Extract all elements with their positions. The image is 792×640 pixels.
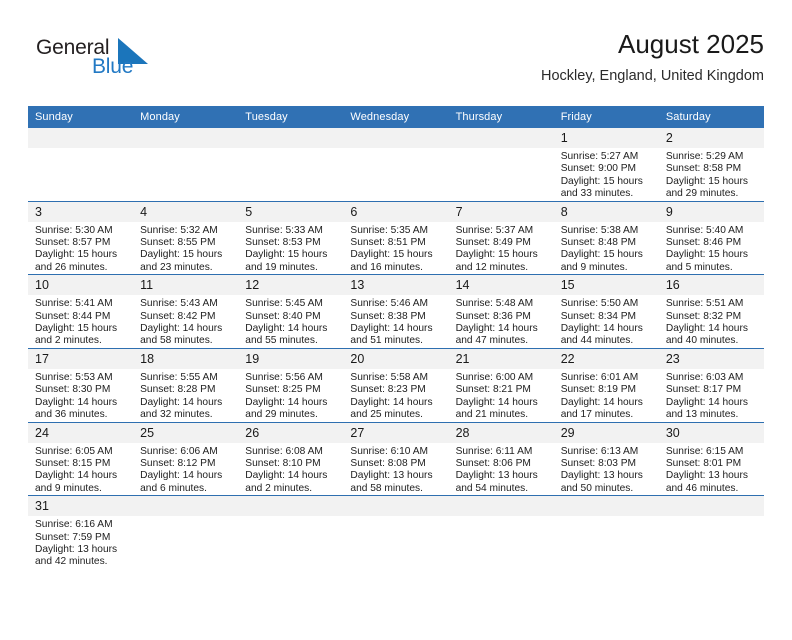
day-details: Sunrise: 6:15 AMSunset: 8:01 PMDaylight:… <box>659 443 764 496</box>
day-details: Sunrise: 5:55 AMSunset: 8:28 PMDaylight:… <box>133 369 238 422</box>
sunrise-time: Sunrise: 5:51 AM <box>666 298 758 310</box>
sunrise-time: Sunrise: 5:43 AM <box>140 298 232 310</box>
day-number: 31 <box>28 496 133 516</box>
sunset-time: Sunset: 8:12 PM <box>140 458 232 470</box>
calendar-day-cell[interactable]: 21Sunrise: 6:00 AMSunset: 8:21 PMDayligh… <box>449 348 554 422</box>
daylight-duration-line2: and 19 minutes. <box>245 262 337 274</box>
day-details: Sunrise: 5:33 AMSunset: 8:53 PMDaylight:… <box>238 222 343 275</box>
sunrise-time: Sunrise: 5:33 AM <box>245 225 337 237</box>
daylight-duration-line1: Daylight: 15 hours <box>666 176 758 188</box>
daylight-duration-line2: and 23 minutes. <box>140 262 232 274</box>
daylight-duration-line1: Daylight: 13 hours <box>350 470 442 482</box>
calendar-day-cell[interactable]: 19Sunrise: 5:56 AMSunset: 8:25 PMDayligh… <box>238 348 343 422</box>
daylight-duration-line1: Daylight: 14 hours <box>666 323 758 335</box>
sunrise-time: Sunrise: 6:05 AM <box>35 446 127 458</box>
sunset-time: Sunset: 8:17 PM <box>666 384 758 396</box>
sunrise-time: Sunrise: 6:13 AM <box>561 446 653 458</box>
sunset-time: Sunset: 8:01 PM <box>666 458 758 470</box>
day-details: Sunrise: 5:37 AMSunset: 8:49 PMDaylight:… <box>449 222 554 275</box>
sunset-time: Sunset: 8:53 PM <box>245 237 337 249</box>
calendar-day-cell[interactable]: 10Sunrise: 5:41 AMSunset: 8:44 PMDayligh… <box>28 275 133 349</box>
calendar-grid: Sunday Monday Tuesday Wednesday Thursday… <box>28 106 764 576</box>
calendar-body: 1Sunrise: 5:27 AMSunset: 9:00 PMDaylight… <box>28 128 764 576</box>
calendar-day-cell[interactable]: 24Sunrise: 6:05 AMSunset: 8:15 PMDayligh… <box>28 422 133 496</box>
day-details: Sunrise: 5:30 AMSunset: 8:57 PMDaylight:… <box>28 222 133 275</box>
daylight-duration-line1: Daylight: 14 hours <box>35 470 127 482</box>
weekday-header-monday: Monday <box>133 106 238 128</box>
daylight-duration-line1: Daylight: 15 hours <box>35 249 127 261</box>
day-number: 21 <box>449 349 554 369</box>
day-number: 5 <box>238 202 343 222</box>
day-number: 24 <box>28 423 133 443</box>
day-details: Sunrise: 6:13 AMSunset: 8:03 PMDaylight:… <box>554 443 659 496</box>
day-number: 1 <box>554 128 659 148</box>
sunset-time: Sunset: 8:55 PM <box>140 237 232 249</box>
day-number: 20 <box>343 349 448 369</box>
day-number <box>449 128 554 148</box>
daylight-duration-line1: Daylight: 15 hours <box>561 249 653 261</box>
calendar-day-cell[interactable]: 11Sunrise: 5:43 AMSunset: 8:42 PMDayligh… <box>133 275 238 349</box>
calendar-day-cell[interactable]: 18Sunrise: 5:55 AMSunset: 8:28 PMDayligh… <box>133 348 238 422</box>
day-number: 12 <box>238 275 343 295</box>
sunrise-time: Sunrise: 5:50 AM <box>561 298 653 310</box>
sunrise-time: Sunrise: 5:48 AM <box>456 298 548 310</box>
sunrise-time: Sunrise: 6:15 AM <box>666 446 758 458</box>
calendar-day-cell[interactable]: 14Sunrise: 5:48 AMSunset: 8:36 PMDayligh… <box>449 275 554 349</box>
day-details: Sunrise: 6:01 AMSunset: 8:19 PMDaylight:… <box>554 369 659 422</box>
day-number: 18 <box>133 349 238 369</box>
sunrise-time: Sunrise: 5:30 AM <box>35 225 127 237</box>
calendar-day-cell[interactable]: 8Sunrise: 5:38 AMSunset: 8:48 PMDaylight… <box>554 201 659 275</box>
day-details: Sunrise: 6:08 AMSunset: 8:10 PMDaylight:… <box>238 443 343 496</box>
sunrise-time: Sunrise: 5:27 AM <box>561 151 653 163</box>
day-number: 25 <box>133 423 238 443</box>
calendar-day-cell[interactable]: 29Sunrise: 6:13 AMSunset: 8:03 PMDayligh… <box>554 422 659 496</box>
sunset-time: Sunset: 8:10 PM <box>245 458 337 470</box>
day-number: 7 <box>449 202 554 222</box>
calendar-day-cell[interactable]: 17Sunrise: 5:53 AMSunset: 8:30 PMDayligh… <box>28 348 133 422</box>
daylight-duration-line2: and 2 minutes. <box>245 483 337 495</box>
day-details: Sunrise: 5:29 AMSunset: 8:58 PMDaylight:… <box>659 148 764 201</box>
daylight-duration-line2: and 33 minutes. <box>561 188 653 200</box>
daylight-duration-line1: Daylight: 14 hours <box>140 323 232 335</box>
weekday-header-friday: Friday <box>554 106 659 128</box>
calendar-day-cell[interactable]: 25Sunrise: 6:06 AMSunset: 8:12 PMDayligh… <box>133 422 238 496</box>
daylight-duration-line1: Daylight: 14 hours <box>561 323 653 335</box>
day-details: Sunrise: 5:53 AMSunset: 8:30 PMDaylight:… <box>28 369 133 422</box>
sunset-time: Sunset: 8:23 PM <box>350 384 442 396</box>
day-details: Sunrise: 6:11 AMSunset: 8:06 PMDaylight:… <box>449 443 554 496</box>
sunrise-time: Sunrise: 5:37 AM <box>456 225 548 237</box>
day-number: 23 <box>659 349 764 369</box>
page-title: August 2025 <box>541 28 764 60</box>
sunset-time: Sunset: 8:03 PM <box>561 458 653 470</box>
day-details: Sunrise: 5:27 AMSunset: 9:00 PMDaylight:… <box>554 148 659 201</box>
calendar-day-cell-empty <box>449 496 554 577</box>
sunset-time: Sunset: 8:51 PM <box>350 237 442 249</box>
day-details: Sunrise: 6:05 AMSunset: 8:15 PMDaylight:… <box>28 443 133 496</box>
day-details: Sunrise: 5:51 AMSunset: 8:32 PMDaylight:… <box>659 295 764 348</box>
day-details: Sunrise: 5:35 AMSunset: 8:51 PMDaylight:… <box>343 222 448 275</box>
calendar-week-row: 3Sunrise: 5:30 AMSunset: 8:57 PMDaylight… <box>28 201 764 275</box>
daylight-duration-line2: and 17 minutes. <box>561 409 653 421</box>
sunset-time: Sunset: 7:59 PM <box>35 532 127 544</box>
calendar-day-cell[interactable]: 15Sunrise: 5:50 AMSunset: 8:34 PMDayligh… <box>554 275 659 349</box>
daylight-duration-line2: and 44 minutes. <box>561 335 653 347</box>
sunset-time: Sunset: 8:38 PM <box>350 311 442 323</box>
day-details: Sunrise: 6:00 AMSunset: 8:21 PMDaylight:… <box>449 369 554 422</box>
day-details: Sunrise: 5:32 AMSunset: 8:55 PMDaylight:… <box>133 222 238 275</box>
daylight-duration-line2: and 2 minutes. <box>35 335 127 347</box>
daylight-duration-line2: and 9 minutes. <box>561 262 653 274</box>
daylight-duration-line2: and 55 minutes. <box>245 335 337 347</box>
calendar-week-row: 17Sunrise: 5:53 AMSunset: 8:30 PMDayligh… <box>28 348 764 422</box>
weekday-header-thursday: Thursday <box>449 106 554 128</box>
calendar-day-cell[interactable]: 5Sunrise: 5:33 AMSunset: 8:53 PMDaylight… <box>238 201 343 275</box>
calendar-day-cell-empty <box>133 496 238 577</box>
calendar-day-cell-empty <box>554 496 659 577</box>
calendar-day-cell-empty <box>238 496 343 577</box>
day-details: Sunrise: 6:03 AMSunset: 8:17 PMDaylight:… <box>659 369 764 422</box>
sunset-time: Sunset: 8:32 PM <box>666 311 758 323</box>
sunrise-time: Sunrise: 5:32 AM <box>140 225 232 237</box>
calendar-day-cell[interactable]: 31Sunrise: 6:16 AMSunset: 7:59 PMDayligh… <box>28 496 133 577</box>
day-details: Sunrise: 5:40 AMSunset: 8:46 PMDaylight:… <box>659 222 764 275</box>
sunset-time: Sunset: 8:21 PM <box>456 384 548 396</box>
sunrise-time: Sunrise: 6:08 AM <box>245 446 337 458</box>
calendar-week-row: 10Sunrise: 5:41 AMSunset: 8:44 PMDayligh… <box>28 275 764 349</box>
sunset-time: Sunset: 8:15 PM <box>35 458 127 470</box>
daylight-duration-line1: Daylight: 13 hours <box>35 544 127 556</box>
calendar-day-cell-empty <box>343 496 448 577</box>
daylight-duration-line1: Daylight: 14 hours <box>456 397 548 409</box>
daylight-duration-line1: Daylight: 15 hours <box>350 249 442 261</box>
day-details: Sunrise: 5:41 AMSunset: 8:44 PMDaylight:… <box>28 295 133 348</box>
day-number <box>238 128 343 148</box>
daylight-duration-line1: Daylight: 13 hours <box>561 470 653 482</box>
daylight-duration-line1: Daylight: 15 hours <box>140 249 232 261</box>
sunrise-time: Sunrise: 6:16 AM <box>35 519 127 531</box>
daylight-duration-line2: and 58 minutes. <box>350 483 442 495</box>
daylight-duration-line2: and 12 minutes. <box>456 262 548 274</box>
daylight-duration-line1: Daylight: 14 hours <box>245 397 337 409</box>
sunset-time: Sunset: 8:58 PM <box>666 163 758 175</box>
calendar-day-cell-empty <box>449 128 554 201</box>
daylight-duration-line2: and 6 minutes. <box>140 483 232 495</box>
sunrise-time: Sunrise: 6:03 AM <box>666 372 758 384</box>
calendar-day-cell[interactable]: 16Sunrise: 5:51 AMSunset: 8:32 PMDayligh… <box>659 275 764 349</box>
sunset-time: Sunset: 8:34 PM <box>561 311 653 323</box>
day-number: 17 <box>28 349 133 369</box>
daylight-duration-line2: and 58 minutes. <box>140 335 232 347</box>
calendar-day-cell[interactable]: 1Sunrise: 5:27 AMSunset: 9:00 PMDaylight… <box>554 128 659 201</box>
day-number: 19 <box>238 349 343 369</box>
daylight-duration-line2: and 42 minutes. <box>35 556 127 568</box>
weekday-header-saturday: Saturday <box>659 106 764 128</box>
sunset-time: Sunset: 9:00 PM <box>561 163 653 175</box>
day-number: 4 <box>133 202 238 222</box>
calendar-week-row: 1Sunrise: 5:27 AMSunset: 9:00 PMDaylight… <box>28 128 764 201</box>
calendar-day-cell[interactable]: 4Sunrise: 5:32 AMSunset: 8:55 PMDaylight… <box>133 201 238 275</box>
sunrise-time: Sunrise: 5:38 AM <box>561 225 653 237</box>
daylight-duration-line1: Daylight: 14 hours <box>245 470 337 482</box>
daylight-duration-line2: and 40 minutes. <box>666 335 758 347</box>
daylight-duration-line1: Daylight: 13 hours <box>666 470 758 482</box>
day-number <box>449 496 554 516</box>
day-number: 6 <box>343 202 448 222</box>
daylight-duration-line1: Daylight: 14 hours <box>140 397 232 409</box>
sunset-time: Sunset: 8:49 PM <box>456 237 548 249</box>
calendar-day-cell[interactable]: 3Sunrise: 5:30 AMSunset: 8:57 PMDaylight… <box>28 201 133 275</box>
day-number: 3 <box>28 202 133 222</box>
sunrise-time: Sunrise: 5:56 AM <box>245 372 337 384</box>
daylight-duration-line1: Daylight: 14 hours <box>666 397 758 409</box>
calendar-day-cell[interactable]: 28Sunrise: 6:11 AMSunset: 8:06 PMDayligh… <box>449 422 554 496</box>
calendar-day-cell-empty <box>659 496 764 577</box>
day-number: 10 <box>28 275 133 295</box>
day-details: Sunrise: 5:50 AMSunset: 8:34 PMDaylight:… <box>554 295 659 348</box>
daylight-duration-line1: Daylight: 15 hours <box>35 323 127 335</box>
calendar-day-cell[interactable]: 20Sunrise: 5:58 AMSunset: 8:23 PMDayligh… <box>343 348 448 422</box>
sunset-time: Sunset: 8:19 PM <box>561 384 653 396</box>
daylight-duration-line1: Daylight: 14 hours <box>140 470 232 482</box>
day-number <box>343 128 448 148</box>
day-number <box>28 128 133 148</box>
calendar-day-cell[interactable]: 23Sunrise: 6:03 AMSunset: 8:17 PMDayligh… <box>659 348 764 422</box>
day-number: 11 <box>133 275 238 295</box>
sunset-time: Sunset: 8:48 PM <box>561 237 653 249</box>
day-number <box>659 496 764 516</box>
daylight-duration-line2: and 50 minutes. <box>561 483 653 495</box>
day-number: 8 <box>554 202 659 222</box>
daylight-duration-line2: and 5 minutes. <box>666 262 758 274</box>
general-blue-logo[interactable]: General Blue <box>36 36 236 90</box>
daylight-duration-line2: and 29 minutes. <box>666 188 758 200</box>
daylight-duration-line1: Daylight: 15 hours <box>245 249 337 261</box>
title-block: August 2025 Hockley, England, United Kin… <box>541 28 764 86</box>
calendar-day-cell[interactable]: 27Sunrise: 6:10 AMSunset: 8:08 PMDayligh… <box>343 422 448 496</box>
daylight-duration-line1: Daylight: 14 hours <box>35 397 127 409</box>
day-details: Sunrise: 5:46 AMSunset: 8:38 PMDaylight:… <box>343 295 448 348</box>
daylight-duration-line1: Daylight: 14 hours <box>350 397 442 409</box>
sunrise-time: Sunrise: 5:41 AM <box>35 298 127 310</box>
weekday-header-tuesday: Tuesday <box>238 106 343 128</box>
day-details: Sunrise: 5:43 AMSunset: 8:42 PMDaylight:… <box>133 295 238 348</box>
sunset-time: Sunset: 8:30 PM <box>35 384 127 396</box>
calendar-week-row: 24Sunrise: 6:05 AMSunset: 8:15 PMDayligh… <box>28 422 764 496</box>
sunset-time: Sunset: 8:36 PM <box>456 311 548 323</box>
day-number: 26 <box>238 423 343 443</box>
calendar-page: General Blue August 2025 Hockley, Englan… <box>0 28 792 640</box>
weekday-header-row: Sunday Monday Tuesday Wednesday Thursday… <box>28 106 764 128</box>
day-number: 14 <box>449 275 554 295</box>
day-number: 13 <box>343 275 448 295</box>
calendar-day-cell[interactable]: 26Sunrise: 6:08 AMSunset: 8:10 PMDayligh… <box>238 422 343 496</box>
sunrise-time: Sunrise: 5:55 AM <box>140 372 232 384</box>
daylight-duration-line2: and 47 minutes. <box>456 335 548 347</box>
daylight-duration-line1: Daylight: 14 hours <box>456 323 548 335</box>
day-details: Sunrise: 6:06 AMSunset: 8:12 PMDaylight:… <box>133 443 238 496</box>
day-number <box>554 496 659 516</box>
calendar-day-cell[interactable]: 7Sunrise: 5:37 AMSunset: 8:49 PMDaylight… <box>449 201 554 275</box>
daylight-duration-line2: and 36 minutes. <box>35 409 127 421</box>
daylight-duration-line2: and 32 minutes. <box>140 409 232 421</box>
daylight-duration-line2: and 46 minutes. <box>666 483 758 495</box>
sunrise-time: Sunrise: 5:53 AM <box>35 372 127 384</box>
logo-text-blue: Blue <box>92 55 133 79</box>
sunrise-time: Sunrise: 6:00 AM <box>456 372 548 384</box>
sunrise-time: Sunrise: 5:40 AM <box>666 225 758 237</box>
calendar-day-cell-empty <box>28 128 133 201</box>
day-details: Sunrise: 5:38 AMSunset: 8:48 PMDaylight:… <box>554 222 659 275</box>
day-details: Sunrise: 5:56 AMSunset: 8:25 PMDaylight:… <box>238 369 343 422</box>
day-number <box>133 128 238 148</box>
calendar-day-cell[interactable]: 6Sunrise: 5:35 AMSunset: 8:51 PMDaylight… <box>343 201 448 275</box>
day-number: 22 <box>554 349 659 369</box>
daylight-duration-line2: and 29 minutes. <box>245 409 337 421</box>
daylight-duration-line1: Daylight: 14 hours <box>561 397 653 409</box>
sunset-time: Sunset: 8:40 PM <box>245 311 337 323</box>
day-number: 29 <box>554 423 659 443</box>
day-details: Sunrise: 6:16 AMSunset: 7:59 PMDaylight:… <box>28 516 133 569</box>
day-details: Sunrise: 5:58 AMSunset: 8:23 PMDaylight:… <box>343 369 448 422</box>
weekday-header-wednesday: Wednesday <box>343 106 448 128</box>
sunrise-time: Sunrise: 5:46 AM <box>350 298 442 310</box>
day-number <box>238 496 343 516</box>
day-number: 15 <box>554 275 659 295</box>
calendar-day-cell-empty <box>133 128 238 201</box>
calendar-day-cell[interactable]: 9Sunrise: 5:40 AMSunset: 8:46 PMDaylight… <box>659 201 764 275</box>
calendar-day-cell[interactable]: 30Sunrise: 6:15 AMSunset: 8:01 PMDayligh… <box>659 422 764 496</box>
sunset-time: Sunset: 8:25 PM <box>245 384 337 396</box>
daylight-duration-line2: and 9 minutes. <box>35 483 127 495</box>
daylight-duration-line1: Daylight: 15 hours <box>561 176 653 188</box>
day-number <box>133 496 238 516</box>
calendar-day-cell-empty <box>238 128 343 201</box>
page-header: General Blue August 2025 Hockley, Englan… <box>28 28 764 102</box>
day-number: 30 <box>659 423 764 443</box>
daylight-duration-line2: and 26 minutes. <box>35 262 127 274</box>
calendar-day-cell-empty <box>343 128 448 201</box>
calendar-day-cell[interactable]: 13Sunrise: 5:46 AMSunset: 8:38 PMDayligh… <box>343 275 448 349</box>
day-number: 16 <box>659 275 764 295</box>
calendar-day-cell[interactable]: 2Sunrise: 5:29 AMSunset: 8:58 PMDaylight… <box>659 128 764 201</box>
calendar-day-cell[interactable]: 22Sunrise: 6:01 AMSunset: 8:19 PMDayligh… <box>554 348 659 422</box>
sunset-time: Sunset: 8:57 PM <box>35 237 127 249</box>
calendar-day-cell[interactable]: 12Sunrise: 5:45 AMSunset: 8:40 PMDayligh… <box>238 275 343 349</box>
sunrise-time: Sunrise: 5:35 AM <box>350 225 442 237</box>
sunrise-time: Sunrise: 5:45 AM <box>245 298 337 310</box>
day-number: 27 <box>343 423 448 443</box>
daylight-duration-line2: and 16 minutes. <box>350 262 442 274</box>
sunset-time: Sunset: 8:44 PM <box>35 311 127 323</box>
sunrise-time: Sunrise: 6:10 AM <box>350 446 442 458</box>
day-number: 28 <box>449 423 554 443</box>
daylight-duration-line1: Daylight: 14 hours <box>245 323 337 335</box>
weekday-header-sunday: Sunday <box>28 106 133 128</box>
calendar-week-row: 31Sunrise: 6:16 AMSunset: 7:59 PMDayligh… <box>28 496 764 577</box>
page-subtitle: Hockley, England, United Kingdom <box>541 66 764 86</box>
day-number <box>343 496 448 516</box>
sunrise-time: Sunrise: 6:01 AM <box>561 372 653 384</box>
daylight-duration-line2: and 21 minutes. <box>456 409 548 421</box>
daylight-duration-line2: and 51 minutes. <box>350 335 442 347</box>
daylight-duration-line2: and 25 minutes. <box>350 409 442 421</box>
sunrise-time: Sunrise: 5:58 AM <box>350 372 442 384</box>
daylight-duration-line1: Daylight: 15 hours <box>456 249 548 261</box>
daylight-duration-line1: Daylight: 15 hours <box>666 249 758 261</box>
sunrise-time: Sunrise: 5:29 AM <box>666 151 758 163</box>
daylight-duration-line2: and 13 minutes. <box>666 409 758 421</box>
day-details: Sunrise: 5:48 AMSunset: 8:36 PMDaylight:… <box>449 295 554 348</box>
sunset-time: Sunset: 8:06 PM <box>456 458 548 470</box>
sunset-time: Sunset: 8:42 PM <box>140 311 232 323</box>
day-details: Sunrise: 6:10 AMSunset: 8:08 PMDaylight:… <box>343 443 448 496</box>
day-number: 9 <box>659 202 764 222</box>
day-number: 2 <box>659 128 764 148</box>
daylight-duration-line1: Daylight: 14 hours <box>350 323 442 335</box>
daylight-duration-line2: and 54 minutes. <box>456 483 548 495</box>
sunrise-time: Sunrise: 6:11 AM <box>456 446 548 458</box>
sunset-time: Sunset: 8:08 PM <box>350 458 442 470</box>
day-details: Sunrise: 5:45 AMSunset: 8:40 PMDaylight:… <box>238 295 343 348</box>
daylight-duration-line1: Daylight: 13 hours <box>456 470 548 482</box>
sunset-time: Sunset: 8:46 PM <box>666 237 758 249</box>
sunrise-time: Sunrise: 6:06 AM <box>140 446 232 458</box>
sunset-time: Sunset: 8:28 PM <box>140 384 232 396</box>
